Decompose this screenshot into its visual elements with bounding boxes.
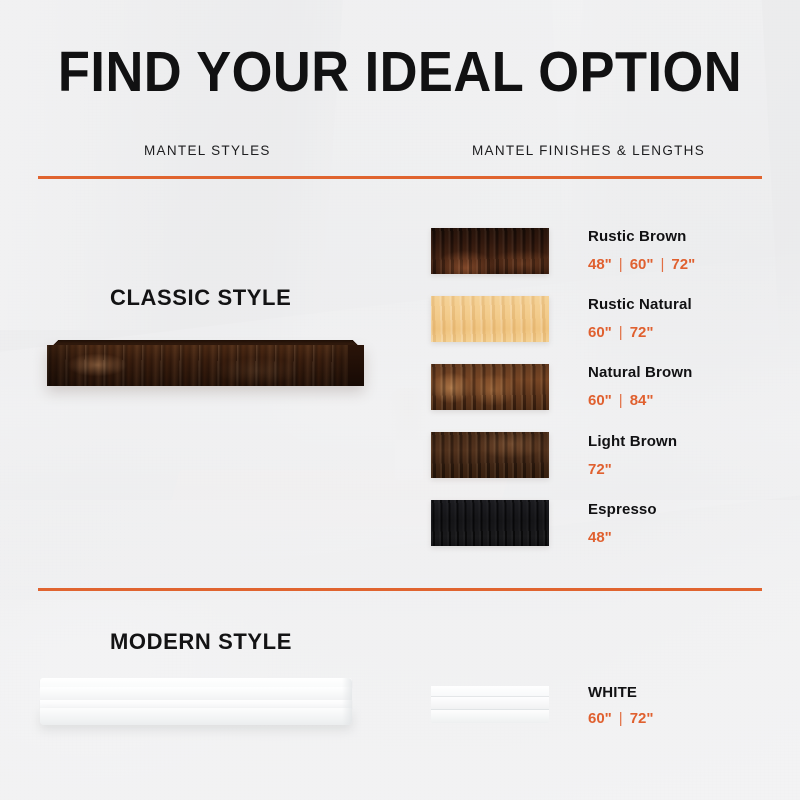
size-option[interactable]: 60" <box>630 256 654 273</box>
size-option[interactable]: 48" <box>588 256 612 273</box>
finish-swatch-rustic-brown[interactable] <box>431 228 549 274</box>
size-separator: | <box>612 710 630 727</box>
finish-sizes-espresso: 48" <box>588 529 612 546</box>
classic-mantel-end-cap <box>348 345 364 386</box>
style-label-modern: MODERN STYLE <box>110 629 292 655</box>
classic-mantel-photo <box>47 338 364 386</box>
finish-sizes-rustic-brown: 48"|60"|72" <box>588 256 695 273</box>
finish-name-rustic-brown: Rustic Brown <box>588 228 686 245</box>
size-separator: | <box>612 324 630 341</box>
finish-swatch-light-brown[interactable] <box>431 432 549 478</box>
classic-mantel-front-face <box>47 345 364 386</box>
column-header-styles: MANTEL STYLES <box>144 143 271 158</box>
infographic: FIND YOUR IDEAL OPTION MANTEL STYLES MAN… <box>0 0 800 800</box>
size-separator: | <box>612 256 630 273</box>
finish-sizes-white: 60"|72" <box>588 710 654 727</box>
modern-mantel-band-mid <box>40 700 352 708</box>
divider-middle <box>38 588 762 591</box>
white-swatch-band-bottom <box>431 709 549 723</box>
size-option[interactable]: 72" <box>630 324 654 341</box>
finish-swatch-natural-brown[interactable] <box>431 364 549 410</box>
size-option[interactable]: 60" <box>588 324 612 341</box>
size-option[interactable]: 72" <box>588 461 612 478</box>
finish-name-espresso: Espresso <box>588 501 657 518</box>
style-label-classic: CLASSIC STYLE <box>110 285 291 311</box>
divider-top <box>38 176 762 179</box>
finish-name-light-brown: Light Brown <box>588 433 677 450</box>
modern-mantel-band-lower <box>40 708 352 725</box>
page-title: FIND YOUR IDEAL OPTION <box>32 43 768 101</box>
finish-name-rustic-natural: Rustic Natural <box>588 296 692 313</box>
modern-mantel-photo <box>40 678 352 725</box>
finish-sizes-natural-brown: 60"|84" <box>588 392 654 409</box>
white-swatch-band-top <box>431 686 549 696</box>
finish-sizes-rustic-natural: 60"|72" <box>588 324 654 341</box>
size-separator: | <box>654 256 672 273</box>
size-separator: | <box>612 392 630 409</box>
white-swatch-band-mid <box>431 696 549 709</box>
size-option[interactable]: 72" <box>630 710 654 727</box>
finish-name-natural-brown: Natural Brown <box>588 364 692 381</box>
modern-mantel-band-upper <box>40 687 352 700</box>
modern-mantel-band-top <box>40 678 352 687</box>
finish-name-white: WHITE <box>588 684 637 701</box>
size-option[interactable]: 60" <box>588 710 612 727</box>
modern-mantel-end-cap <box>342 678 352 725</box>
size-option[interactable]: 60" <box>588 392 612 409</box>
size-option[interactable]: 84" <box>630 392 654 409</box>
finish-swatch-rustic-natural[interactable] <box>431 296 549 342</box>
finish-swatch-white[interactable] <box>431 686 549 723</box>
size-option[interactable]: 72" <box>671 256 695 273</box>
size-option[interactable]: 48" <box>588 529 612 546</box>
column-header-finishes: MANTEL FINISHES & LENGTHS <box>472 143 705 158</box>
finish-swatch-espresso[interactable] <box>431 500 549 546</box>
finish-sizes-light-brown: 72" <box>588 461 612 478</box>
